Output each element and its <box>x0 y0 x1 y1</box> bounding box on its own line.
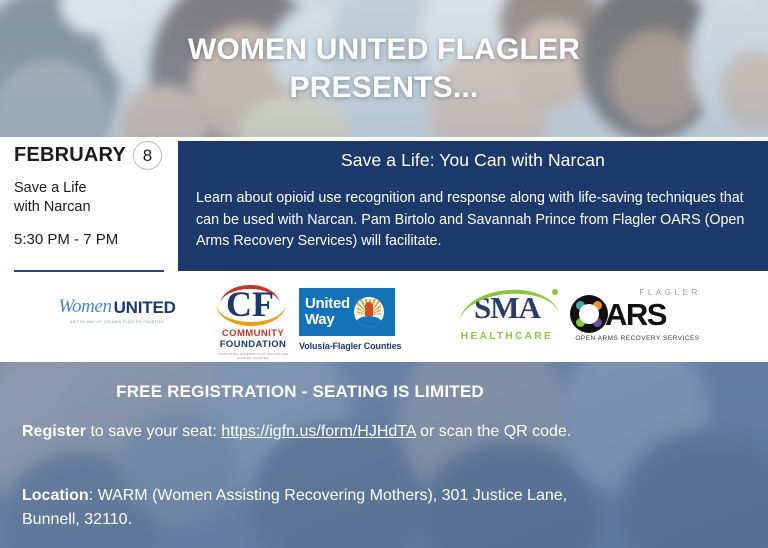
cf-letter-c: C <box>226 286 252 322</box>
united-way-line2: Way <box>305 312 350 328</box>
logo-flagler-oars: FLAGLER ARS OPEN ARMS RECOVERY SERVICES <box>570 288 705 342</box>
cf-line3: SUPPORTING NONPROFITS OF VOLUSIA AND FLA… <box>214 352 292 360</box>
event-panel-body: Learn about opioid use recognition and r… <box>196 188 750 253</box>
oars-people-circle-icon <box>570 295 608 333</box>
women-united-script: Women <box>58 296 111 318</box>
united-way-sub: Volusia-Flagler Counties <box>299 341 419 351</box>
united-way-emblem-icon <box>354 297 384 327</box>
event-day-circle: 8 <box>133 141 162 170</box>
oars-letters: ARS <box>605 299 666 330</box>
event-row: FEBRUARY 8 Save a Life with Narcan 5:30 … <box>0 137 768 272</box>
cf-letter-f: F <box>252 286 274 322</box>
registration-section: FREE REGISTRATION - SEATING IS LIMITED R… <box>0 362 768 548</box>
cf-line2: FOUNDATION <box>214 339 292 350</box>
register-label: Register <box>22 423 86 440</box>
event-info-panel: Save a Life: You Can with Narcan Learn a… <box>178 141 768 271</box>
logo-sma-healthcare: SMA HEALTHCARE <box>452 292 562 342</box>
location-value: : WARM (Women Assisting Recovering Mothe… <box>22 487 567 528</box>
flyer: WOMEN UNITED FLAGLER PRESENTS... FEBRUAR… <box>0 0 768 548</box>
registration-heading: FREE REGISTRATION - SEATING IS LIMITED <box>0 382 600 402</box>
registration-instructions: Register to save your seat: https://igfn… <box>22 420 578 444</box>
community-foundation-mark: C F <box>214 286 292 326</box>
sma-sub: HEALTHCARE <box>452 331 562 342</box>
register-rest: to save your seat: <box>86 423 221 440</box>
hero-title: WOMEN UNITED FLAGLER PRESENTS... <box>0 31 768 108</box>
logo-women-united: Women UNITED UNITED WAY OF VOLUSIA-FLAGL… <box>42 296 192 324</box>
location-label: Location <box>22 487 89 504</box>
event-day: 8 <box>143 146 152 166</box>
hero-banner: WOMEN UNITED FLAGLER PRESENTS... <box>0 0 768 137</box>
hero-title-line1: WOMEN UNITED FLAGLER <box>0 31 768 69</box>
event-date-block: FEBRUARY 8 Save a Life with Narcan 5:30 … <box>14 141 174 248</box>
women-united-sub: UNITED WAY OF VOLUSIA-FLAGLER COUNTIES <box>42 320 192 324</box>
registration-location: Location: WARM (Women Assisting Recoveri… <box>22 484 578 531</box>
logo-community-foundation: C F COMMUNITY FOUNDATION SUPPORTING NONP… <box>214 286 292 360</box>
event-name-line1: Save a Life <box>14 179 174 198</box>
women-united-bold: UNITED <box>114 298 176 318</box>
register-tail: or scan the QR code. <box>416 423 572 440</box>
united-way-box: United Way <box>299 288 395 336</box>
event-panel-title: Save a Life: You Can with Narcan <box>196 150 750 171</box>
oars-sub: OPEN ARMS RECOVERY SERVICES <box>570 335 705 342</box>
event-name-line2: with Narcan <box>14 198 174 217</box>
sma-mark: SMA <box>452 292 562 330</box>
sponsor-logos: Women UNITED UNITED WAY OF VOLUSIA-FLAGL… <box>0 272 768 362</box>
logo-united-way: United Way Volusia-Flagler Counties <box>299 288 419 351</box>
event-month: FEBRUARY <box>14 144 126 167</box>
event-date-head: FEBRUARY 8 <box>14 141 162 170</box>
event-time: 5:30 PM - 7 PM <box>14 231 174 248</box>
sma-dot-icon <box>552 289 558 295</box>
event-name: Save a Life with Narcan <box>14 179 174 218</box>
hero-title-line2: PRESENTS... <box>0 69 768 107</box>
united-way-line1: United <box>305 296 350 312</box>
cf-line1: COMMUNITY <box>214 328 292 339</box>
registration-url-link[interactable]: https://igfn.us/form/HJHdTA <box>221 423 415 440</box>
